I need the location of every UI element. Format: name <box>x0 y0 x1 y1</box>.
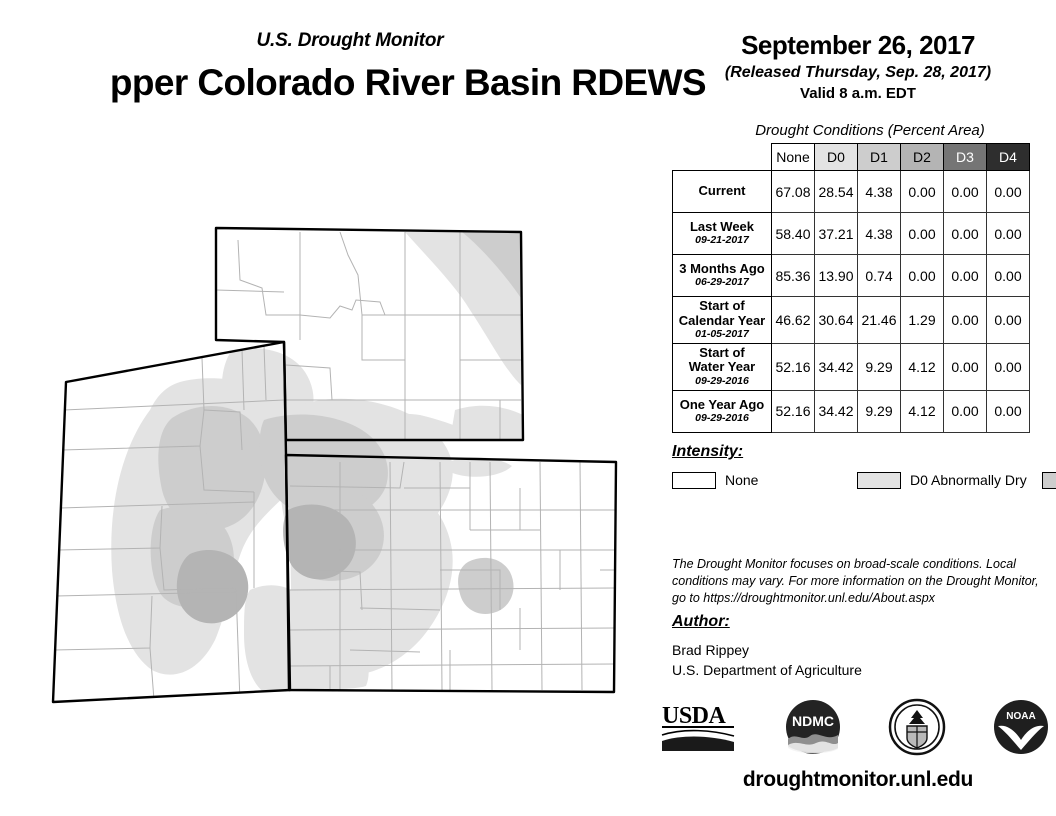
intensity-heading: Intensity: <box>672 443 743 461</box>
cell-d3: 0.00 <box>944 297 987 344</box>
table-row: Start ofCalendar Year01-05-201746.6230.6… <box>673 297 1030 344</box>
cell-none: 52.16 <box>772 390 815 432</box>
legend-item: D1 Moderate Drought <box>1042 468 1056 492</box>
table-corner-cell <box>673 144 772 171</box>
row-label: Start ofWater Year09-29-2016 <box>673 343 772 390</box>
cell-d0: 34.42 <box>815 390 858 432</box>
cell-d2: 4.12 <box>901 390 944 432</box>
column-header-d4: D4 <box>987 144 1030 171</box>
row-label: Last Week09-21-2017 <box>673 213 772 255</box>
intensity-legend: NoneD0 Abnormally DryD1 Moderate Drought… <box>672 468 1042 492</box>
author-name: Brad Rippey <box>672 640 862 660</box>
ndmc-logo: NDMC <box>784 698 842 756</box>
svg-text:USDA: USDA <box>662 703 727 729</box>
cell-d4: 0.00 <box>987 171 1030 213</box>
cell-d1: 4.38 <box>858 171 901 213</box>
table-row: Start ofWater Year09-29-201652.1634.429.… <box>673 343 1030 390</box>
table-row: Last Week09-21-201758.4037.214.380.000.0… <box>673 213 1030 255</box>
cell-none: 52.16 <box>772 343 815 390</box>
svg-text:NOAA: NOAA <box>1006 711 1035 722</box>
cell-d4: 0.00 <box>987 390 1030 432</box>
cell-d3: 0.00 <box>944 343 987 390</box>
cell-d2: 0.00 <box>901 213 944 255</box>
cell-d1: 0.74 <box>858 255 901 297</box>
cell-d0: 34.42 <box>815 343 858 390</box>
cell-d3: 0.00 <box>944 213 987 255</box>
legend-item: D0 Abnormally Dry <box>857 468 1042 492</box>
partner-logos: USDA NDMC NOAA <box>660 698 1050 756</box>
row-date: 09-29-2016 <box>676 413 768 425</box>
drought-map[interactable] <box>0 110 660 810</box>
usdc-seal-logo <box>888 698 946 756</box>
legend-swatch <box>857 472 901 489</box>
row-date: 09-21-2017 <box>676 235 768 247</box>
row-date: 01-05-2017 <box>676 329 768 341</box>
table-row: Current67.0828.544.380.000.000.00 <box>673 171 1030 213</box>
site-url: droughtmonitor.unl.edu <box>660 768 1056 792</box>
author-block: Brad Rippey U.S. Department of Agricultu… <box>672 640 862 681</box>
cell-none: 46.62 <box>772 297 815 344</box>
cell-d2: 1.29 <box>901 297 944 344</box>
drought-monitor-subtitle: U.S. Drought Monitor <box>0 30 700 52</box>
cell-d1: 9.29 <box>858 343 901 390</box>
legend-item: None <box>672 468 857 492</box>
row-date: 09-29-2016 <box>676 376 768 388</box>
row-label: Current <box>673 171 772 213</box>
page-title: pper Colorado River Basin RDEWS <box>0 62 706 104</box>
cell-d0: 37.21 <box>815 213 858 255</box>
cell-d2: 4.12 <box>901 343 944 390</box>
legend-swatch <box>1042 472 1056 489</box>
cell-d2: 0.00 <box>901 171 944 213</box>
table-row: One Year Ago09-29-201652.1634.429.294.12… <box>673 390 1030 432</box>
release-date: (Released Thursday, Sep. 28, 2017) <box>660 64 1056 82</box>
cell-d0: 28.54 <box>815 171 858 213</box>
column-header-d0: D0 <box>815 144 858 171</box>
cell-none: 67.08 <box>772 171 815 213</box>
cell-d1: 9.29 <box>858 390 901 432</box>
cell-none: 85.36 <box>772 255 815 297</box>
column-header-d2: D2 <box>901 144 944 171</box>
cell-d4: 0.00 <box>987 255 1030 297</box>
author-heading: Author: <box>672 613 730 631</box>
cell-d1: 4.38 <box>858 213 901 255</box>
cell-d3: 0.00 <box>944 390 987 432</box>
author-affiliation: U.S. Department of Agriculture <box>672 660 862 680</box>
table-header-row: None D0 D1 D2 D3 D4 <box>673 144 1030 171</box>
row-label: 3 Months Ago06-29-2017 <box>673 255 772 297</box>
cell-d2: 0.00 <box>901 255 944 297</box>
column-header-d1: D1 <box>858 144 901 171</box>
cell-d4: 0.00 <box>987 343 1030 390</box>
cell-d3: 0.00 <box>944 255 987 297</box>
row-date: 06-29-2017 <box>676 277 768 289</box>
usda-logo: USDA <box>660 701 738 753</box>
cell-d0: 30.64 <box>815 297 858 344</box>
noaa-logo: NOAA <box>992 698 1050 756</box>
cell-none: 58.40 <box>772 213 815 255</box>
disclaimer-text: The Drought Monitor focuses on broad-sca… <box>672 556 1052 607</box>
table-row: 3 Months Ago06-29-201785.3613.900.740.00… <box>673 255 1030 297</box>
valid-time: Valid 8 a.m. EDT <box>660 85 1056 102</box>
legend-swatch <box>672 472 716 489</box>
row-label: One Year Ago09-29-2016 <box>673 390 772 432</box>
issue-date: September 26, 2017 <box>660 30 1056 61</box>
cell-d1: 21.46 <box>858 297 901 344</box>
cell-d0: 13.90 <box>815 255 858 297</box>
table-caption: Drought Conditions (Percent Area) <box>700 122 1040 139</box>
legend-label: None <box>725 472 758 488</box>
column-header-d3: D3 <box>944 144 987 171</box>
row-label: Start ofCalendar Year01-05-2017 <box>673 297 772 344</box>
legend-label: D0 Abnormally Dry <box>910 472 1027 488</box>
cell-d4: 0.00 <box>987 297 1030 344</box>
drought-conditions-table: None D0 D1 D2 D3 D4 Current67.0828.544.3… <box>672 143 1030 433</box>
cell-d3: 0.00 <box>944 171 987 213</box>
column-header-none: None <box>772 144 815 171</box>
cell-d4: 0.00 <box>987 213 1030 255</box>
svg-text:NDMC: NDMC <box>792 713 834 729</box>
